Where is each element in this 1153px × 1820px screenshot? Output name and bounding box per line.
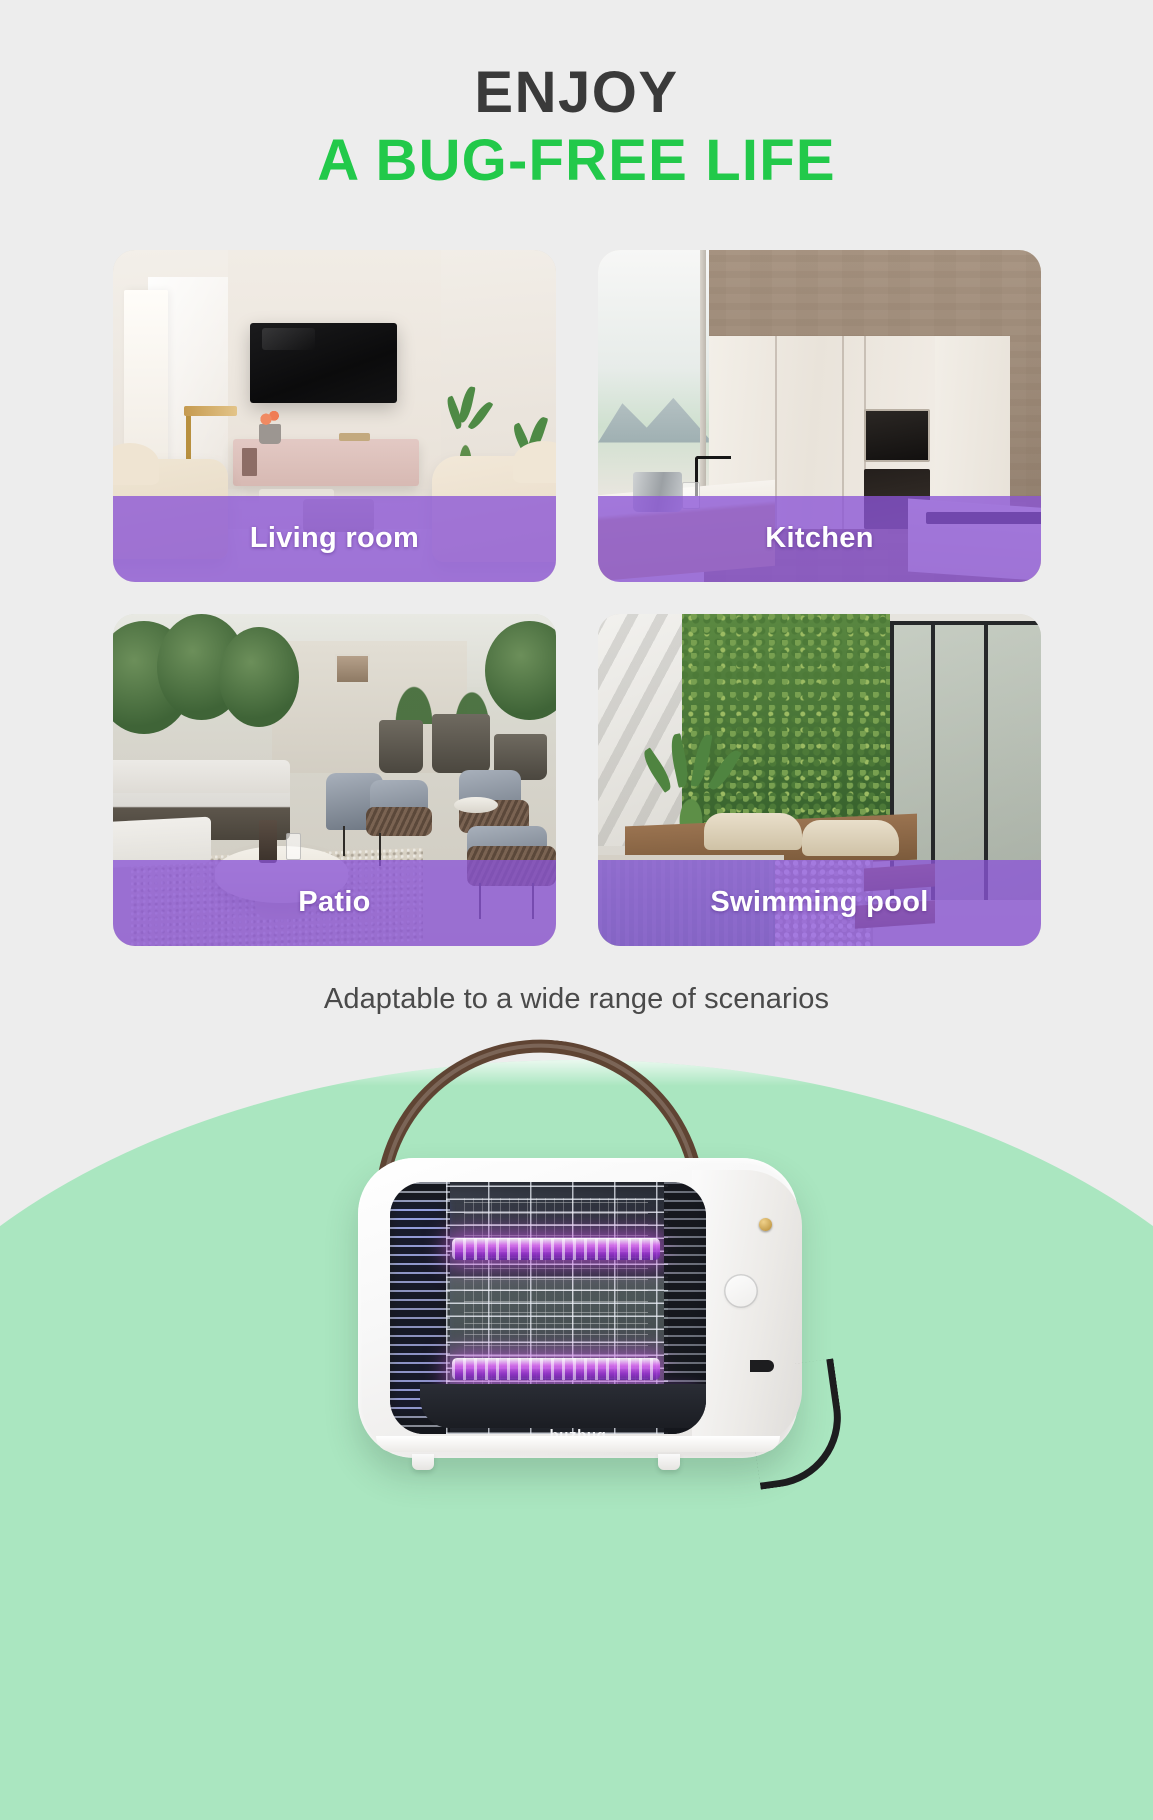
scenario-label: Swimming pool bbox=[710, 886, 928, 919]
headline: ENJOY A BUG-FREE LIFE bbox=[0, 62, 1153, 194]
scenario-label: Living room bbox=[250, 522, 419, 555]
device-base-rim bbox=[376, 1436, 780, 1452]
scenario-grid: Living room Kitchen bbox=[113, 250, 1041, 946]
scenario-card-patio[interactable]: Patio bbox=[113, 614, 556, 946]
card-label-band: Swimming pool bbox=[598, 860, 1041, 946]
handle-rivet-icon bbox=[759, 1218, 772, 1231]
device-foot-left bbox=[412, 1454, 434, 1470]
scenario-label: Kitchen bbox=[765, 522, 873, 555]
power-cord-inlet bbox=[750, 1360, 774, 1372]
tv-screen bbox=[250, 323, 396, 403]
scenario-card-swimming-pool[interactable]: Swimming pool bbox=[598, 614, 1041, 946]
collection-tray bbox=[420, 1384, 706, 1428]
card-label-band: Living room bbox=[113, 496, 556, 582]
scenario-card-kitchen[interactable]: Kitchen bbox=[598, 250, 1041, 582]
headline-line-1: ENJOY bbox=[0, 62, 1153, 125]
scenario-label: Patio bbox=[298, 886, 370, 919]
device-body: buzbug bbox=[358, 1158, 798, 1458]
scenarios-caption: Adaptable to a wide range of scenarios bbox=[0, 983, 1153, 1016]
built-in-oven bbox=[864, 409, 930, 462]
device-foot-right bbox=[658, 1454, 680, 1470]
uv-lamp-tube-top bbox=[452, 1238, 660, 1260]
card-label-band: Patio bbox=[113, 860, 556, 946]
power-button[interactable] bbox=[724, 1274, 758, 1308]
scenario-card-living-room[interactable]: Living room bbox=[113, 250, 556, 582]
zapper-grid-face bbox=[390, 1182, 706, 1434]
headline-line-2: A BUG-FREE LIFE bbox=[0, 129, 1153, 194]
card-label-band: Kitchen bbox=[598, 496, 1041, 582]
product-image-bug-zapper: buzbug bbox=[330, 1040, 830, 1480]
uv-lamp-tube-bottom bbox=[452, 1358, 660, 1380]
